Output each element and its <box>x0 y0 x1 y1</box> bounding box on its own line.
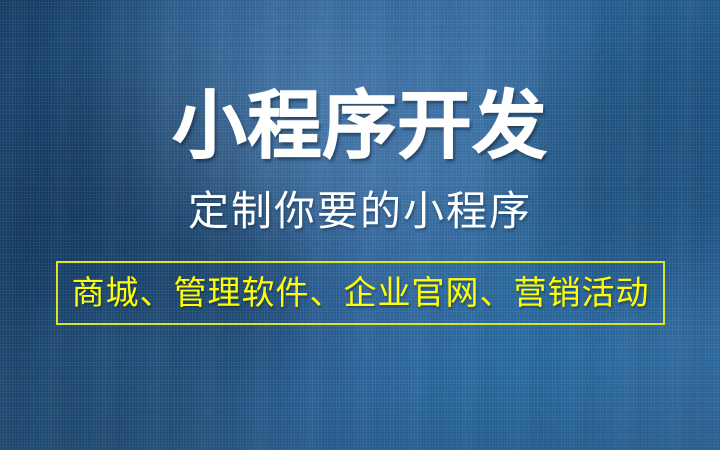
tagline-box: 商城、管理软件、企业官网、营销活动 <box>56 261 665 325</box>
headline: 小程序开发 <box>0 83 720 169</box>
promo-banner: 小程序开发 定制你要的小程序 商城、管理软件、企业官网、营销活动 <box>0 0 720 450</box>
banner-content: 小程序开发 定制你要的小程序 商城、管理软件、企业官网、营销活动 <box>0 0 720 450</box>
tagline-text: 商城、管理软件、企业官网、营销活动 <box>72 273 650 313</box>
subheadline: 定制你要的小程序 <box>0 186 720 236</box>
